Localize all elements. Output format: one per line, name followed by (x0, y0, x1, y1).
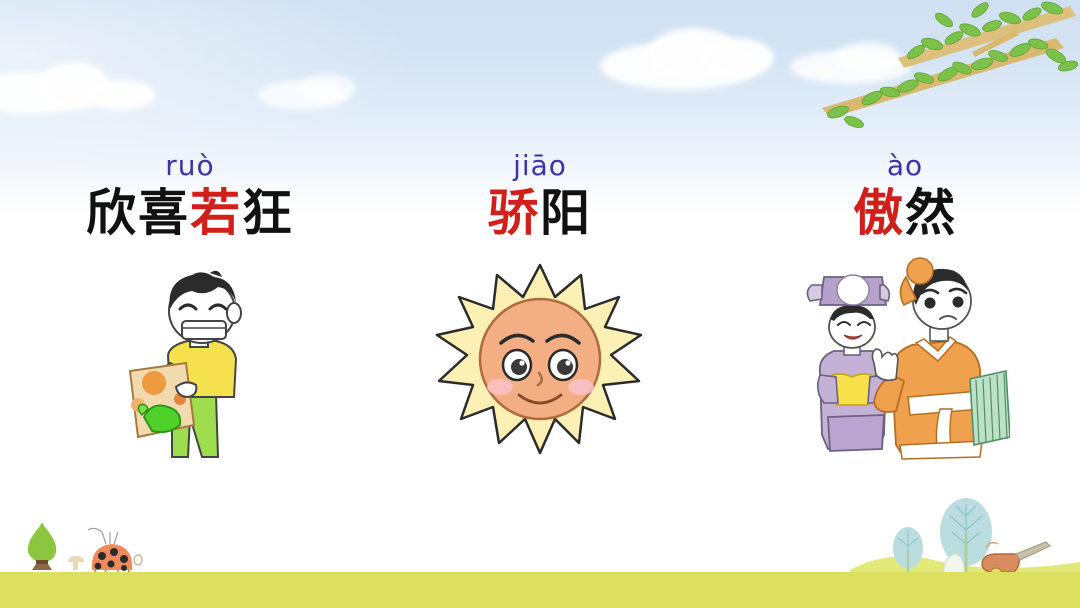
hanzi-2: 骄阳 (420, 186, 660, 239)
boy-ear (227, 303, 241, 323)
pinyin-3: ào (780, 152, 1030, 180)
mushroom-stem (73, 562, 78, 570)
pinyin-1: ruò (40, 152, 340, 180)
word-group-2[interactable]: jiāo 骄阳 (420, 152, 660, 466)
bottom-left-decorations (10, 512, 150, 578)
figure-scholar-orange (872, 258, 1010, 459)
pinyin-2: jiāo (420, 152, 660, 180)
small-tree-crown (28, 523, 57, 562)
gift-toy (144, 405, 180, 432)
official-hat-wing-right (880, 285, 889, 301)
hanzi-2-char-0: 骄 (488, 183, 540, 242)
gift-dot-1 (142, 371, 166, 395)
sun-pupil-left (511, 359, 527, 375)
illustration-smiling-sun (420, 261, 660, 466)
hanzi-2-char-1: 阳 (540, 183, 592, 242)
hanzi-1-char-3: 狂 (242, 183, 294, 242)
scholar-eye-left (925, 298, 936, 309)
scholar-eye-right (953, 297, 964, 308)
scholar-hem (900, 441, 982, 459)
sun-blush-left (487, 379, 513, 395)
cart-handle (1016, 542, 1050, 560)
illustration-ancient-figures (780, 257, 1030, 472)
hanzi-1-char-1: 喜 (138, 183, 190, 242)
scholar-topknot (907, 258, 933, 284)
sun-blush-right (568, 379, 594, 395)
illustration-happy-boy (40, 267, 340, 472)
mushroom-cap (68, 556, 84, 562)
small-tree-base (32, 564, 52, 570)
hanzi-3-char-1: 然 (905, 183, 957, 242)
boy-hand (176, 382, 196, 397)
slide-canvas: ruò 欣喜若狂 (0, 0, 1080, 608)
official-skirt (828, 415, 884, 451)
official-sleeve-left (818, 375, 838, 403)
scholar-hand (872, 349, 898, 380)
official-hat-wing-left (807, 285, 822, 301)
word-group-3[interactable]: ào 傲然 (780, 152, 1030, 472)
bottom-right-decorations (850, 490, 1080, 582)
hanzi-1-char-2: 若 (190, 183, 242, 242)
word-group-1[interactable]: ruò 欣喜若狂 (40, 152, 340, 472)
sun-face (480, 299, 600, 419)
boy-mouth (182, 321, 226, 339)
ladybug-antennae (88, 528, 118, 544)
hanzi-1-char-0: 欣 (86, 183, 138, 242)
sun-pupil-right (557, 359, 573, 375)
ground-strip (0, 572, 1080, 608)
sun-eye-glint-right (565, 360, 570, 365)
sun-eye-glint-left (519, 360, 524, 365)
hanzi-3-char-0: 傲 (853, 183, 905, 242)
hanzi-1: 欣喜若狂 (40, 186, 340, 239)
ladybug-wing-hint (134, 555, 142, 565)
official-hat-emblem (837, 275, 869, 305)
hanzi-3: 傲然 (780, 186, 1030, 239)
